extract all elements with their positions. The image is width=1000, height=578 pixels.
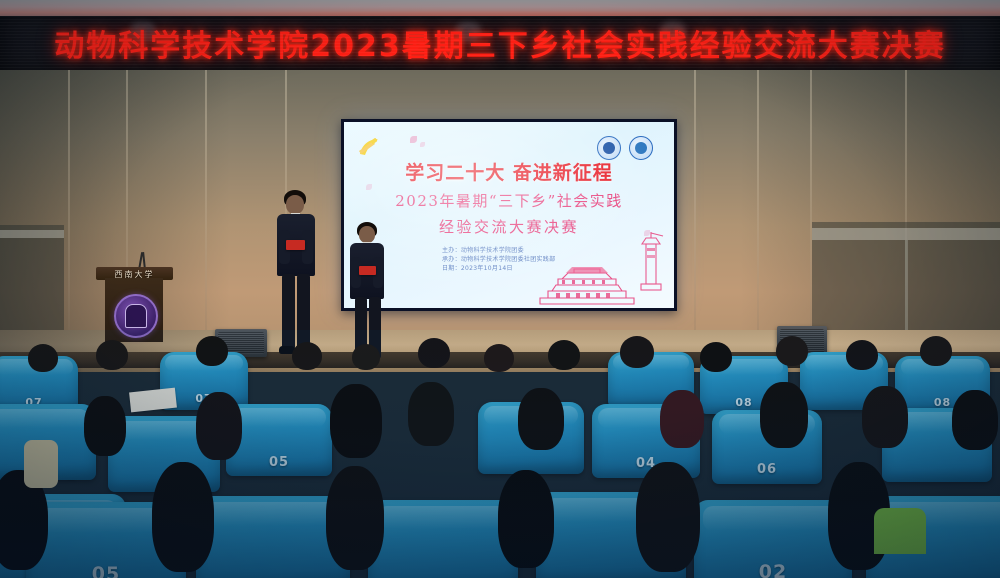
- wall-panel-seam: [757, 70, 759, 365]
- slide-subtitle-1: 2023年暑期“三下乡”社会实践: [344, 190, 674, 211]
- audience-head: [700, 342, 732, 372]
- audience-head: [484, 344, 514, 372]
- side-door-left: [0, 225, 64, 345]
- audience-head: [330, 384, 382, 458]
- host-left-head: [286, 195, 304, 214]
- university-emblem-podium: [114, 294, 158, 338]
- door-window-band: [812, 228, 1000, 240]
- projection-screen-surface: 学习二十大 奋进新征程 2023年暑期“三下乡”社会实践 经验交流大赛决赛 主办…: [344, 122, 674, 308]
- audience-head: [498, 470, 554, 568]
- audience-head: [518, 388, 564, 450]
- audience-head: [196, 392, 242, 460]
- slide-subtitle-2: 经验交流大赛决赛: [344, 216, 674, 237]
- slide-meta-line: 承办：动物科学技术学院团委社团实践部: [442, 255, 555, 264]
- audience-beige-jacket: [24, 440, 58, 488]
- host-left-leg: [282, 274, 295, 350]
- audience-head: [846, 340, 878, 370]
- led-banner-text: 动物科学技术学院2023暑期三下乡社会实践经验交流大赛决赛: [0, 21, 1000, 65]
- host-right: [345, 222, 391, 362]
- audience-head: [620, 336, 654, 368]
- monument-tower-illustration: [636, 230, 666, 292]
- audience-head: [326, 466, 384, 570]
- globe-logo-inner: [635, 142, 647, 154]
- slide-meta-line: 主办：动物科学技术学院团委: [442, 246, 555, 255]
- audience-head: [96, 340, 128, 370]
- wall-panel-seam: [68, 70, 70, 365]
- audience-head: [636, 462, 700, 572]
- audience-green-jacket: [874, 508, 926, 554]
- slide-headline: 学习二十大 奋进新征程: [344, 158, 674, 185]
- audience-head: [862, 386, 908, 448]
- audience-head: [28, 344, 58, 372]
- audience-head: [292, 342, 322, 370]
- host-right-head: [359, 226, 375, 243]
- host-left-leg: [297, 274, 310, 350]
- host-right-cue-card: [359, 266, 376, 275]
- wall-panel-seam: [205, 70, 207, 365]
- audience-head: [952, 390, 998, 450]
- audience-head: [776, 336, 808, 366]
- audience-head: [920, 336, 952, 366]
- audience-head: [548, 340, 580, 370]
- globe-logo: [629, 136, 653, 160]
- projection-screen: 学习二十大 奋进新征程 2023年暑期“三下乡”社会实践 经验交流大赛决赛 主办…: [341, 119, 677, 311]
- audience-head: [352, 344, 380, 370]
- audience-head: [408, 382, 454, 446]
- seat-row-middle[interactable]: 05: [226, 404, 332, 476]
- tiananmen-gate-illustration: [522, 264, 642, 306]
- audience-head: [152, 462, 214, 572]
- door-window-band: [0, 230, 64, 238]
- seat-number: 05: [226, 455, 332, 470]
- wall-panel-seam: [694, 70, 696, 365]
- audience-head: [418, 338, 450, 368]
- seat-row-front[interactable]: [368, 500, 518, 578]
- audience-head: [196, 336, 228, 366]
- host-left-cue-card: [286, 240, 305, 250]
- auditorium-photo-scene: 动物科学技术学院2023暑期三下乡社会实践经验交流大赛决赛: [0, 0, 1000, 578]
- audience-head: [660, 390, 704, 448]
- host-left: [270, 190, 322, 358]
- seat-number: 02: [694, 561, 852, 578]
- cpc-hammer-sickle-emblem: [356, 136, 382, 160]
- led-banner-board: 动物科学技术学院2023暑期三下乡社会实践经验交流大赛决赛: [0, 16, 1000, 70]
- seat-number: 05: [26, 563, 186, 578]
- university-seal-inner: [603, 142, 615, 154]
- audience-head: [760, 382, 808, 448]
- university-seal-logo: [597, 136, 621, 160]
- audience-head: [84, 396, 126, 456]
- seat-number: 06: [712, 462, 822, 477]
